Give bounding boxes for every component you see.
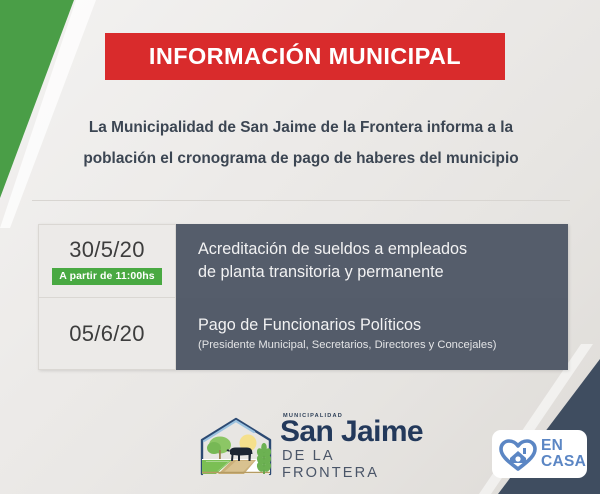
logo-name: San Jaime: [280, 416, 436, 448]
en-casa-wordmark: EN CASA: [541, 438, 586, 470]
logo-wordmark: MUNICIPALIDAD San Jaime DE LA FRONTERA: [280, 413, 436, 482]
schedule-date-cell: 30/5/20 A partir de 11:00hs: [38, 224, 176, 298]
section-divider: [32, 200, 570, 201]
logo-subtitle: DE LA FRONTERA: [282, 448, 436, 482]
schedule-time-badge: A partir de 11:00hs: [52, 268, 161, 286]
intro-line-1: La Municipalidad de San Jaime de la Fron…: [34, 112, 568, 143]
schedule-desc-sub: (Presidente Municipal, Secretarios, Dire…: [198, 337, 568, 354]
en-casa-line-1: EN: [541, 438, 586, 454]
intro-paragraph: La Municipalidad de San Jaime de la Fron…: [34, 112, 568, 174]
intro-line-2: población el cronograma de pago de haber…: [34, 143, 568, 174]
schedule-date: 30/5/20: [69, 237, 145, 263]
table-row: 30/5/20 A partir de 11:00hs Acreditación…: [38, 224, 568, 298]
municipal-logo: MUNICIPALIDAD San Jaime DE LA FRONTERA: [196, 412, 436, 482]
schedule-date-cell: 05/6/20: [38, 298, 176, 370]
heart-house-icon: [498, 436, 538, 472]
schedule-description-cell: Acreditación de sueldos a empleados de p…: [176, 224, 568, 298]
payment-schedule-table: 30/5/20 A partir de 11:00hs Acreditación…: [38, 224, 568, 370]
san-jaime-house-farm-logo-icon: [196, 414, 276, 480]
schedule-description-cell: Pago de Funcionarios Políticos (Presiden…: [176, 298, 568, 370]
table-row: 05/6/20 Pago de Funcionarios Políticos (…: [38, 298, 568, 370]
schedule-desc-line-1: Acreditación de sueldos a empleados: [198, 238, 568, 261]
en-casa-line-2: CASA: [541, 454, 586, 470]
schedule-date: 05/6/20: [69, 321, 145, 347]
header-banner: INFORMACIÓN MUNICIPAL: [105, 33, 505, 80]
poster-canvas: INFORMACIÓN MUNICIPAL La Municipalidad d…: [0, 0, 600, 494]
schedule-desc-line-1: Pago de Funcionarios Políticos: [198, 314, 568, 337]
schedule-desc-line-2: de planta transitoria y permanente: [198, 261, 568, 284]
en-casa-badge: EN CASA: [492, 430, 587, 478]
banner-title: INFORMACIÓN MUNICIPAL: [149, 43, 461, 70]
